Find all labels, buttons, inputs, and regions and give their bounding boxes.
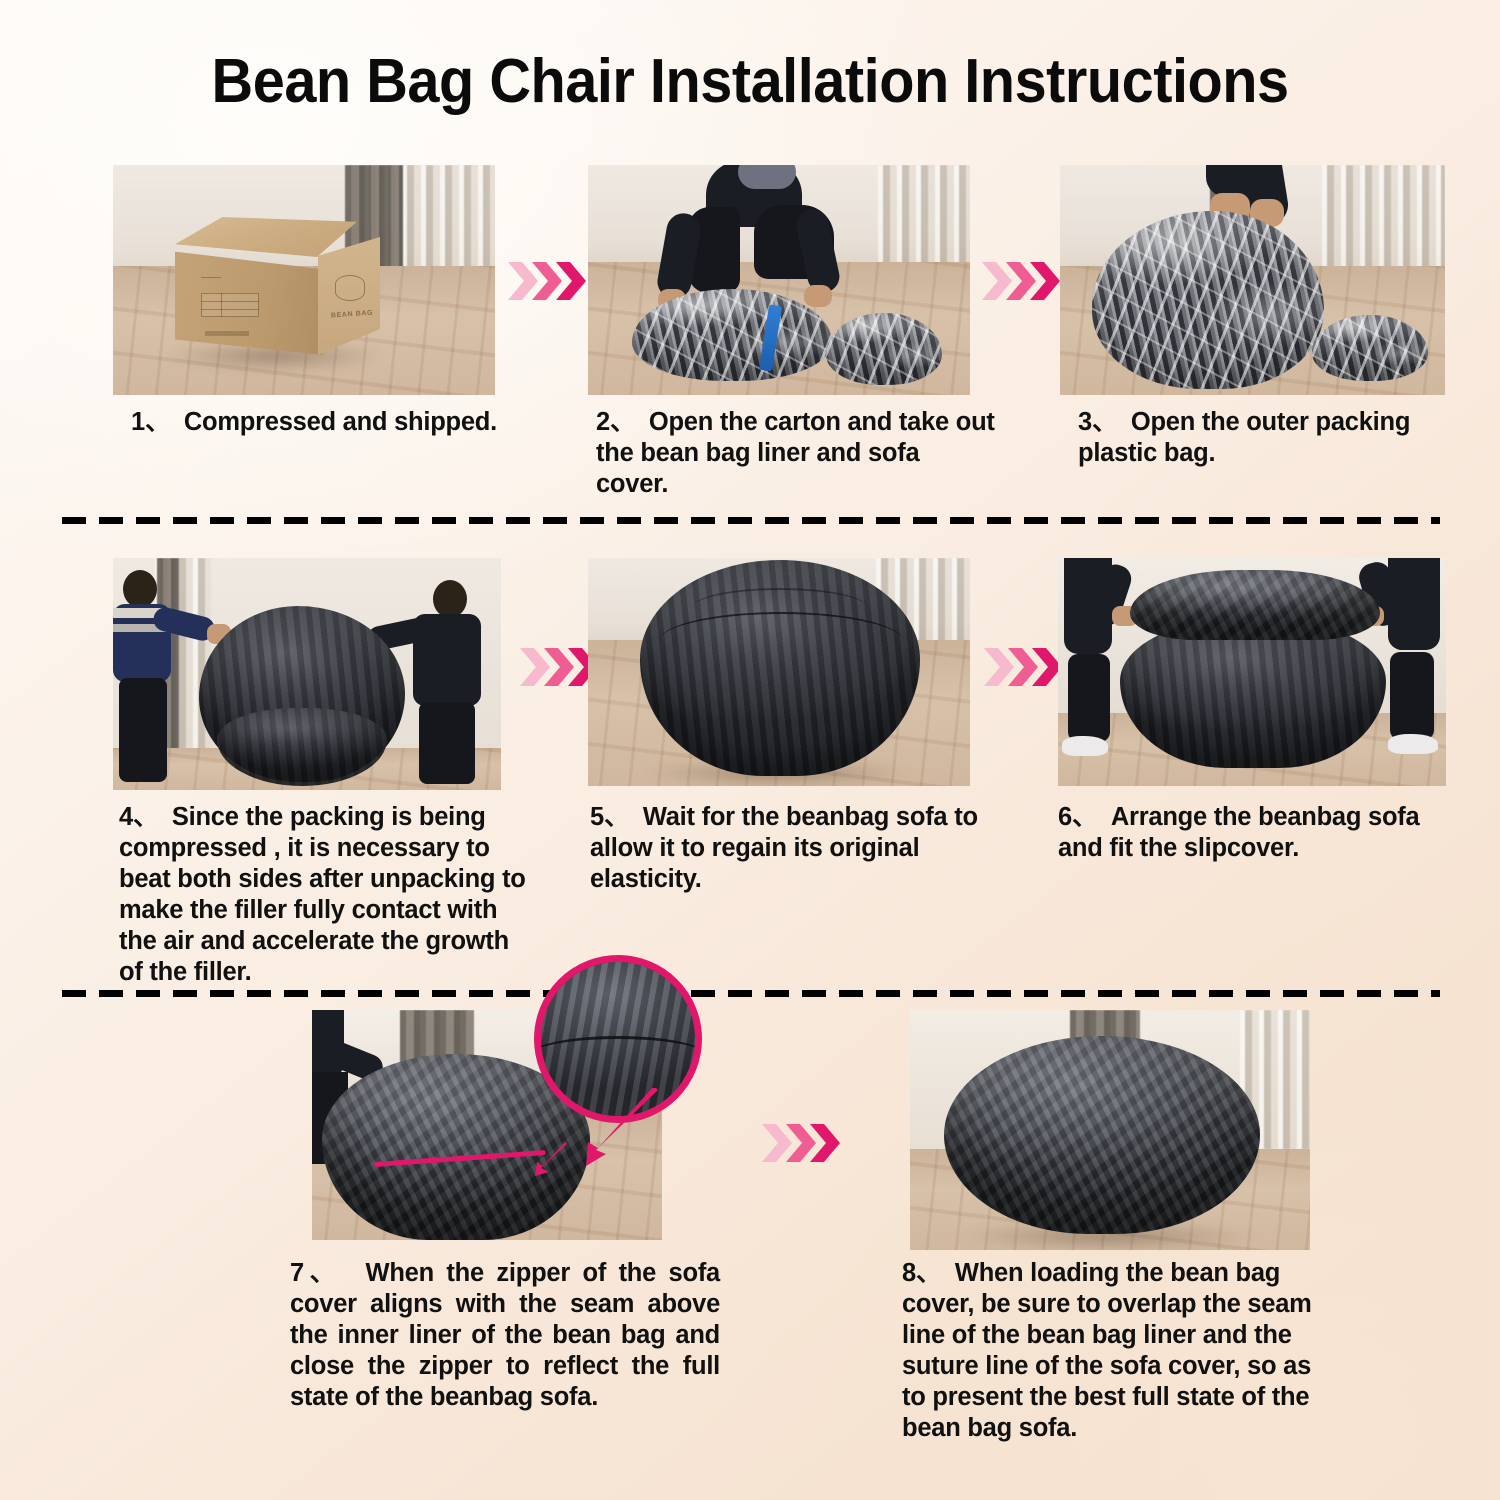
step-caption-8: 8、 When loading the bean bag cover, be s… — [902, 1258, 1320, 1444]
triple-chevron-right-icon — [508, 258, 590, 304]
triple-chevron-right-icon — [982, 258, 1064, 304]
page-header: Bean Bag Chair Installation Instructions — [0, 46, 1500, 118]
arrow-step5-to-step6 — [984, 644, 1066, 690]
step-caption-6: 6、 Arrange the beanbag sofa and fit the … — [1058, 802, 1458, 864]
step-photo-6 — [1058, 558, 1446, 786]
section-divider-2 — [62, 990, 1440, 997]
arrow-pointing-to-seam — [527, 1142, 569, 1178]
arrow-step2-to-step3 — [982, 258, 1064, 304]
arrow-step7-to-step8 — [762, 1120, 844, 1166]
step-caption-1: 1、 Compressed and shipped. — [131, 407, 531, 438]
step-photo-8 — [910, 1010, 1310, 1250]
step-photo-2 — [588, 165, 970, 395]
step-photo-4 — [113, 558, 501, 790]
step-caption-5: 5、 Wait for the beanbag sofa to allow it… — [590, 802, 990, 895]
step-photo-5 — [588, 558, 970, 786]
page-title: Bean Bag Chair Installation Instructions — [211, 46, 1288, 118]
section-divider-1 — [62, 517, 1440, 524]
step-photo-3 — [1060, 165, 1445, 395]
triple-chevron-right-icon — [984, 644, 1066, 690]
callout-pointer-arrow — [580, 1088, 666, 1172]
step-caption-3: 3、 Open the outer packing plastic bag. — [1078, 407, 1468, 469]
step-caption-7: 7、 When the zipper of the sofa cover ali… — [290, 1258, 720, 1413]
step-photo-1: BEAN BAG — [113, 165, 495, 395]
arrow-step1-to-step2 — [508, 258, 590, 304]
step-caption-4: 4、 Since the packing is being compressed… — [119, 802, 531, 988]
triple-chevron-right-icon — [762, 1120, 844, 1166]
step-caption-2: 2、 Open the carton and take out the bean… — [596, 407, 996, 500]
